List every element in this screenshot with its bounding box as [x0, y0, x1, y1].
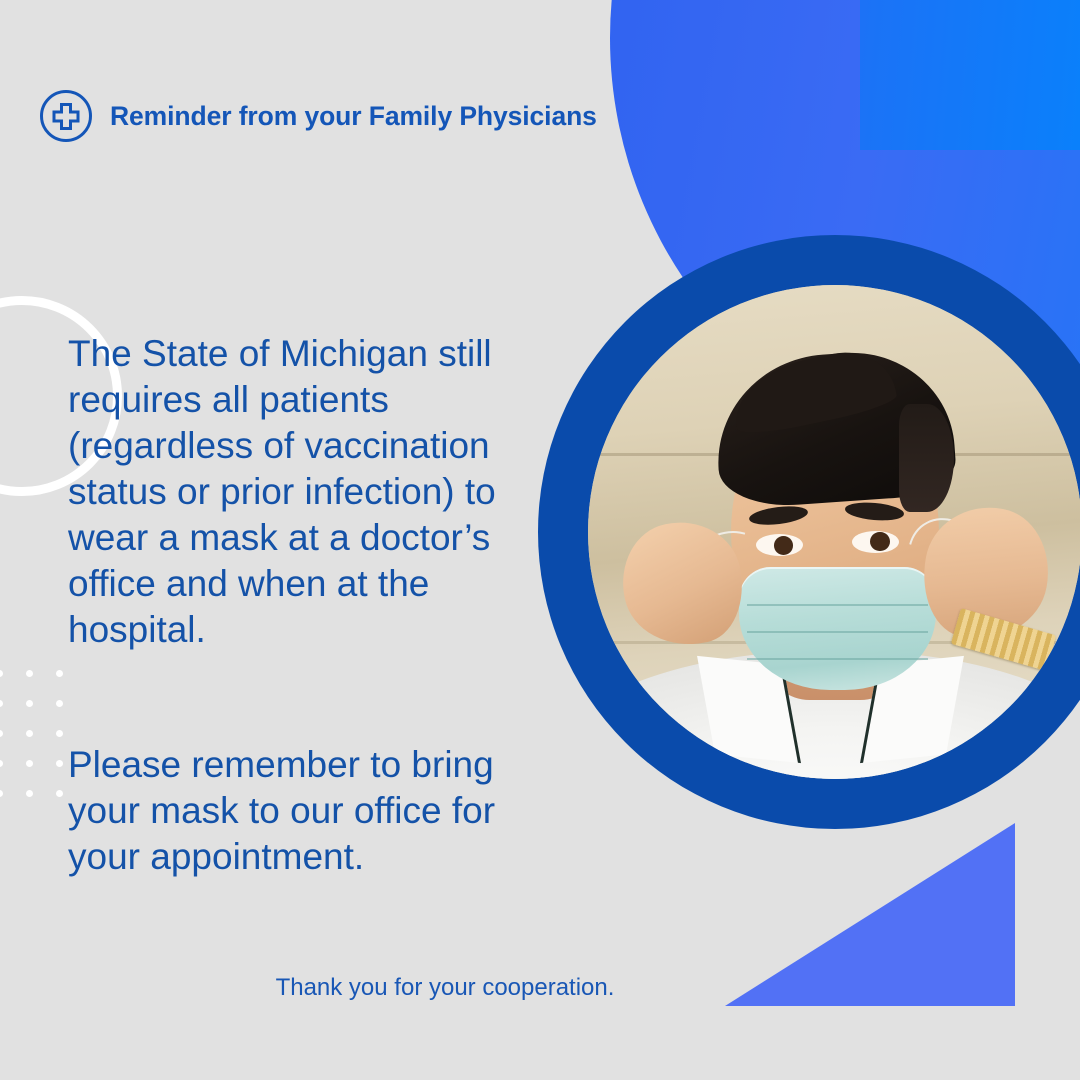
photo-eye-right	[852, 531, 899, 553]
dot	[0, 670, 3, 677]
paragraph-mask-requirement: The State of Michigan still requires all…	[68, 331, 538, 653]
white-dot-grid-decoration	[0, 670, 74, 810]
footer-note: Thank you for your cooperation.	[0, 974, 890, 1002]
photo-hair-side	[899, 404, 953, 513]
dot	[0, 790, 3, 797]
dot	[0, 700, 3, 707]
dot	[56, 670, 63, 677]
dot	[56, 790, 63, 797]
dot	[26, 700, 33, 707]
header-title: Reminder from your Family Physicians	[110, 101, 597, 132]
dot	[56, 700, 63, 707]
dot	[26, 760, 33, 767]
paragraph-bring-mask: Please remember to bring your mask to ou…	[68, 742, 538, 880]
dot	[0, 760, 3, 767]
portrait-photo-circle-frame	[538, 235, 1080, 829]
dot	[56, 730, 63, 737]
dot	[26, 790, 33, 797]
dot	[0, 730, 3, 737]
header: Reminder from your Family Physicians	[38, 88, 597, 144]
portrait-photo	[588, 285, 1080, 779]
body-copy: The State of Michigan still requires all…	[68, 285, 538, 926]
dot	[56, 760, 63, 767]
dot	[26, 670, 33, 677]
dot	[26, 730, 33, 737]
blue-gradient-corner-fill-decoration	[860, 0, 1080, 150]
medical-cross-circle-icon	[38, 88, 94, 144]
poster-canvas: Reminder from your Family Physicians The…	[0, 0, 1080, 1080]
